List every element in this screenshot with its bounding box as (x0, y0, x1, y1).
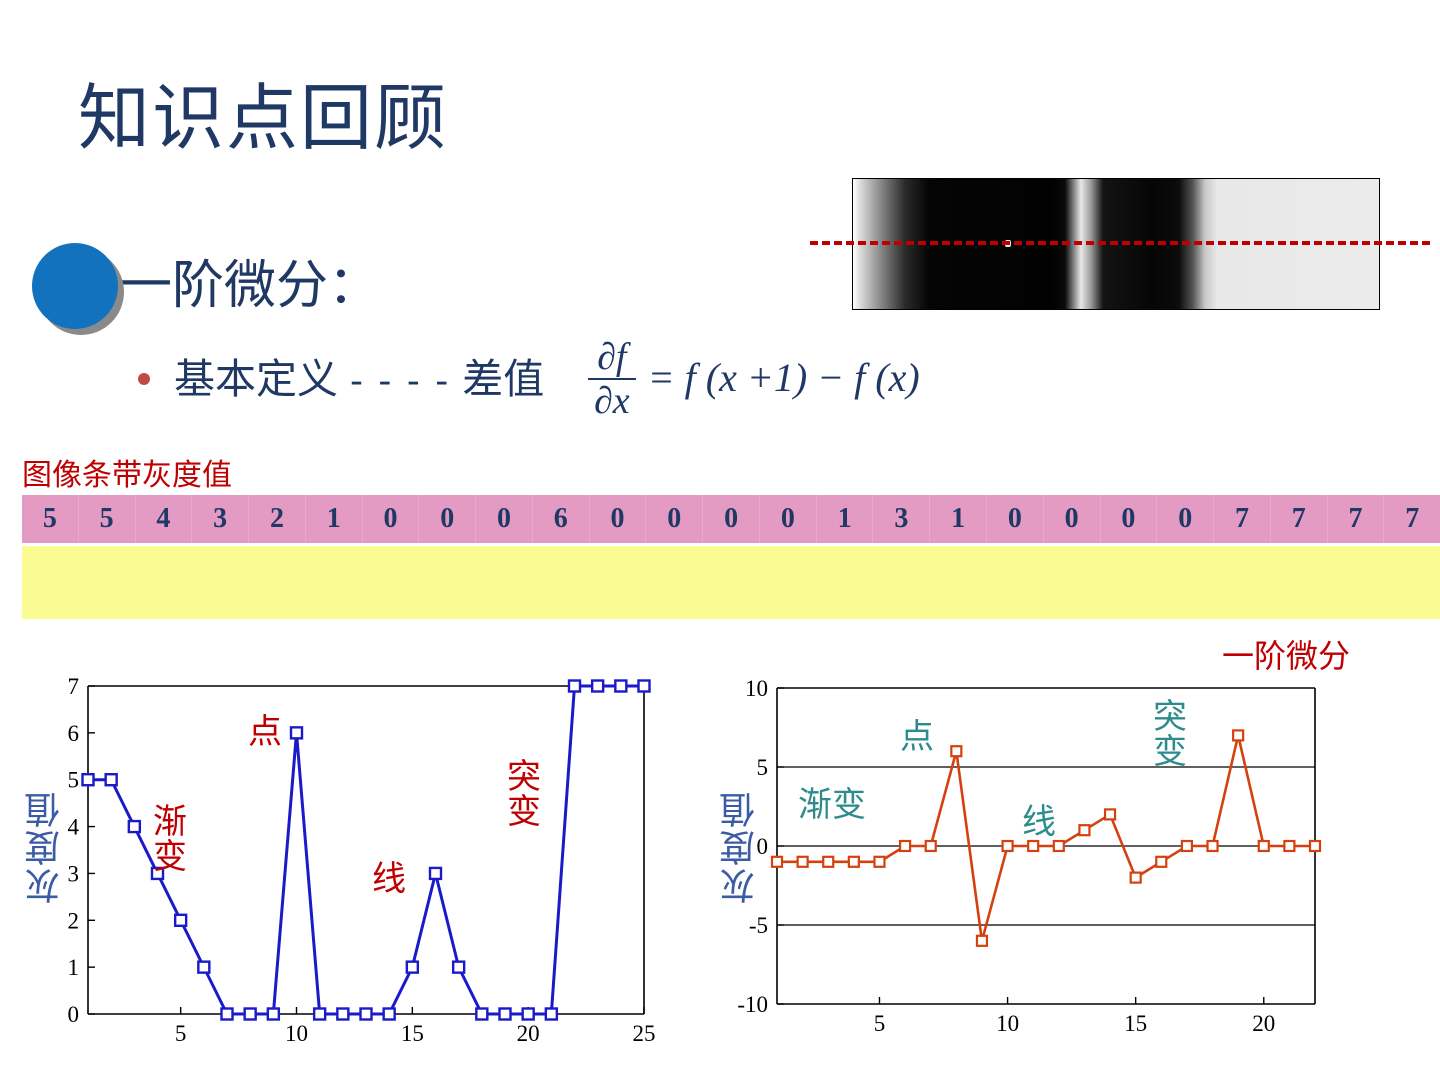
gray-value-cell: 0 (476, 495, 533, 543)
gray-value-cell: 5 (22, 495, 79, 543)
data-point-marker (384, 1009, 395, 1020)
gray-value-cell: 0 (987, 495, 1044, 543)
y-tick-label: -5 (749, 913, 768, 938)
data-point-marker (268, 1009, 279, 1020)
annotation-gradual-left: 渐变 (150, 805, 190, 874)
data-point-marker (291, 727, 302, 738)
page-title: 知识点回顾 (78, 82, 448, 154)
data-point-marker (798, 857, 808, 867)
annotation-gradual-right: 渐变 (798, 788, 866, 823)
x-tick-label: 15 (401, 1021, 424, 1046)
annotation-point-right: 点 (900, 720, 934, 755)
gray-value-cell: 7 (1328, 495, 1385, 543)
y-tick-label: -10 (737, 992, 768, 1017)
bullet-level2-label-2: 差值 (462, 345, 544, 405)
data-point-marker (849, 857, 859, 867)
data-point-marker (523, 1009, 534, 1020)
data-point-marker (1079, 825, 1089, 835)
x-tick-label: 15 (1124, 1011, 1147, 1036)
y-tick-label: 5 (68, 768, 80, 793)
blue-circle-bullet-icon (32, 243, 118, 329)
data-point-marker (1310, 841, 1320, 851)
data-point-marker (639, 681, 650, 692)
table-caption: 图像条带灰度值 (22, 450, 232, 494)
data-point-marker (1259, 841, 1269, 851)
first-derivative-svg: -10-505105101520 (715, 666, 1335, 1056)
gray-value-cell: 7 (1214, 495, 1271, 543)
annotation-line-right: 线 (1022, 805, 1056, 840)
data-point-marker (337, 1009, 348, 1020)
annotation-jump-left: 突变 (504, 760, 544, 829)
annotation-jump-right: 突变 (1150, 700, 1190, 769)
data-point-marker (430, 868, 441, 879)
first-derivative-chart: -10-505105101520 (715, 666, 1335, 1056)
gray-value-cell: 7 (1384, 495, 1440, 543)
formula-numerator: ∂f (591, 338, 632, 378)
data-point-marker (500, 1009, 511, 1020)
data-point-marker (569, 681, 580, 692)
data-point-marker (926, 841, 936, 851)
gray-value-table: 5543210006000013100007777 (22, 495, 1440, 543)
gray-value-cell: 0 (646, 495, 703, 543)
data-point-marker (1054, 841, 1064, 851)
data-point-marker (1003, 841, 1013, 851)
data-point-marker (1131, 873, 1141, 883)
formula-right-hand-side: = f (x +1) − f (x) (648, 354, 920, 401)
data-point-marker (245, 1009, 256, 1020)
annotation-line-left: 线 (372, 862, 406, 897)
y-tick-label: 10 (745, 676, 768, 701)
x-tick-label: 5 (874, 1011, 886, 1036)
gray-value-cell: 0 (1101, 495, 1158, 543)
gray-value-cell: 0 (703, 495, 760, 543)
bullet-level1-label: 一阶微分： (120, 260, 380, 312)
data-point-marker (900, 841, 910, 851)
data-point-marker (222, 1009, 233, 1020)
data-point-marker (361, 1009, 372, 1020)
gray-profile-svg: 01234567510152025 (20, 666, 660, 1066)
data-point-marker (951, 746, 961, 756)
data-point-marker (772, 857, 782, 867)
gray-value-cell: 0 (363, 495, 420, 543)
y-tick-label: 0 (68, 1002, 80, 1027)
red-dot-bullet-icon (138, 373, 150, 385)
data-point-marker (823, 857, 833, 867)
data-point-marker (1208, 841, 1218, 851)
y-tick-label: 5 (757, 755, 769, 780)
y-tick-label: 7 (68, 674, 80, 699)
data-point-marker (175, 915, 186, 926)
gray-value-cell: 3 (873, 495, 930, 543)
formula-denominator: ∂x (588, 380, 636, 420)
gray-value-cell: 0 (419, 495, 476, 543)
data-point-marker (314, 1009, 325, 1020)
x-tick-label: 10 (996, 1011, 1019, 1036)
data-point-marker (106, 774, 117, 785)
gray-value-cell: 5 (79, 495, 136, 543)
data-point-marker (546, 1009, 557, 1020)
data-point-marker (407, 962, 418, 973)
gray-value-cell: 0 (590, 495, 647, 543)
gray-value-cell: 2 (249, 495, 306, 543)
gray-value-cell: 1 (306, 495, 363, 543)
data-point-marker (1105, 809, 1115, 819)
bullet-level1: 一阶微分： (32, 243, 380, 329)
y-tick-label: 2 (68, 908, 80, 933)
data-point-marker (1284, 841, 1294, 851)
left-chart-y-axis-title: 灰度值 (20, 790, 72, 904)
gray-value-cell: 7 (1271, 495, 1328, 543)
data-point-marker (1182, 841, 1192, 851)
data-point-marker (453, 962, 464, 973)
x-tick-label: 20 (1252, 1011, 1275, 1036)
data-point-marker (1028, 841, 1038, 851)
bullet-level2-label: 基本定义 (174, 345, 338, 405)
gray-value-cell: 0 (760, 495, 817, 543)
data-point-marker (198, 962, 209, 973)
data-point-marker (129, 821, 140, 832)
gray-value-cell: 4 (136, 495, 193, 543)
red-dashed-scanline (810, 241, 1430, 245)
gray-value-cell: 3 (192, 495, 249, 543)
data-point-marker (1156, 857, 1166, 867)
empty-yellow-row (22, 546, 1440, 619)
x-tick-label: 25 (633, 1021, 656, 1046)
x-tick-label: 10 (285, 1021, 308, 1046)
gray-value-cell: 0 (1044, 495, 1101, 543)
data-point-marker (592, 681, 603, 692)
x-tick-label: 20 (517, 1021, 540, 1046)
data-point-marker (874, 857, 884, 867)
gray-value-cell: 6 (533, 495, 590, 543)
gray-profile-chart: 01234567510152025 (20, 666, 660, 1066)
gray-value-cell: 1 (930, 495, 987, 543)
gray-value-cell: 0 (1157, 495, 1214, 543)
derivative-formula: ∂f ∂x = f (x +1) − f (x) (588, 336, 920, 418)
data-point-marker (476, 1009, 487, 1020)
bullet-level2: 基本定义 - - - - 差值 (138, 345, 544, 405)
annotation-point-left: 点 (248, 715, 282, 750)
gray-value-cell: 1 (817, 495, 874, 543)
dashed-connector: - - - - (350, 361, 450, 402)
right-chart-y-axis-title: 灰度值 (715, 790, 767, 904)
y-tick-label: 1 (68, 955, 80, 980)
data-point-marker (615, 681, 626, 692)
data-point-marker (83, 774, 94, 785)
x-tick-label: 5 (175, 1021, 187, 1046)
data-point-marker (977, 936, 987, 946)
y-tick-label: 6 (68, 721, 80, 746)
data-point-marker (1233, 730, 1243, 740)
